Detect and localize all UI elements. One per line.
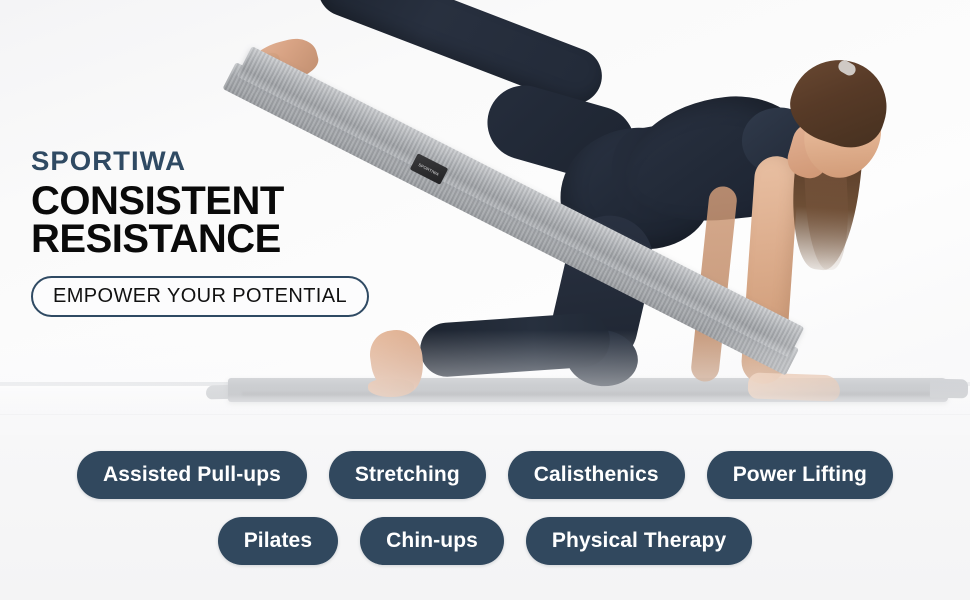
back-foot-toes: [368, 379, 414, 397]
tag-calisthenics[interactable]: Calisthenics: [508, 451, 685, 499]
headline-line-2: RESISTANCE: [31, 220, 381, 258]
tagline-badge: EMPOWER YOUR POTENTIAL: [31, 276, 369, 317]
page-title: CONSISTENT RESISTANCE: [31, 182, 381, 259]
tag-pilates[interactable]: Pilates: [218, 517, 338, 565]
tag-stretching[interactable]: Stretching: [329, 451, 486, 499]
brand-logo: SPORTIWA: [31, 148, 388, 175]
tag-physical-therapy[interactable]: Physical Therapy: [526, 517, 752, 565]
use-case-tags: Assisted Pull-ups Stretching Calisthenic…: [0, 435, 970, 600]
tag-row-2: Pilates Chin-ups Physical Therapy: [0, 517, 970, 565]
tag-power-lifting[interactable]: Power Lifting: [707, 451, 893, 499]
product-banner: SPORTIWA SPORTIWA CONSISTENT RESISTANCE …: [0, 0, 970, 600]
tag-chin-ups[interactable]: Chin-ups: [360, 517, 504, 565]
supporting-hand: [748, 372, 841, 401]
headline-block: SPORTIWA CONSISTENT RESISTANCE EMPOWER Y…: [31, 148, 381, 317]
tag-assisted-pull-ups[interactable]: Assisted Pull-ups: [77, 451, 307, 499]
headline-line-1: CONSISTENT: [31, 179, 284, 223]
tag-row-1: Assisted Pull-ups Stretching Calisthenic…: [0, 451, 970, 499]
